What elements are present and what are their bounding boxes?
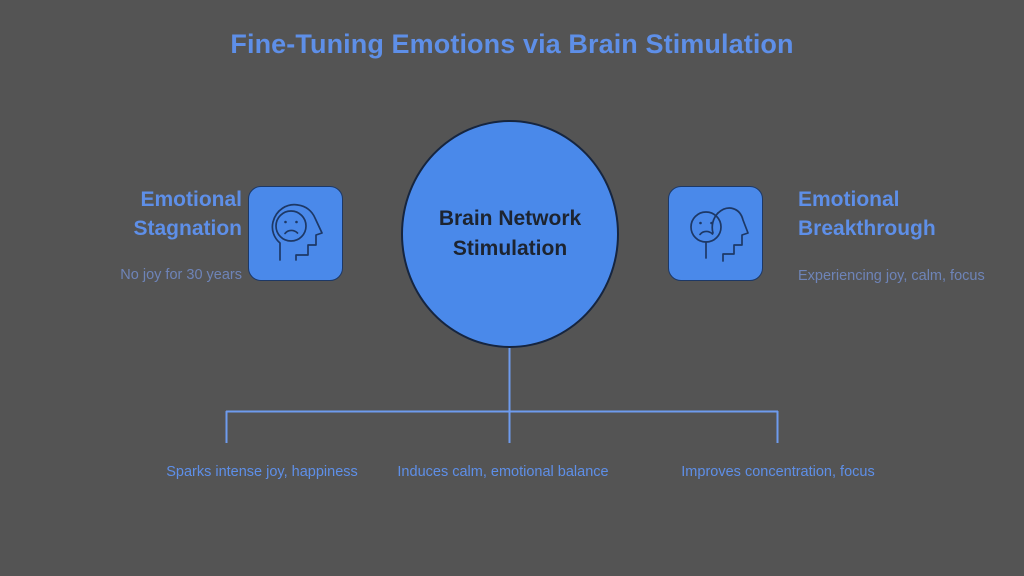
sad-face-head-profile-icon	[680, 198, 752, 270]
left-heading-line-1: Emotional	[140, 188, 242, 211]
right-icon-tile[interactable]	[668, 186, 763, 281]
sad-head-profile-icon	[260, 198, 332, 270]
slide-canvas: Fine-Tuning Emotions via Brain Stimulati…	[0, 0, 1024, 576]
branch-label-induces-calm: Induces calm, emotional balance	[378, 462, 628, 484]
right-heading-line-1: Emotional	[798, 188, 900, 211]
right-state-block: Emotional Breakthrough Experiencing joy,…	[798, 186, 1024, 287]
branch-label-sparks-joy: Sparks intense joy, happiness	[137, 462, 387, 484]
right-heading: Emotional Breakthrough	[798, 186, 1024, 243]
center-node-brain-network-stimulation[interactable]: Brain Network Stimulation	[401, 120, 619, 348]
left-subtext: No joy for 30 years	[10, 265, 242, 286]
branch-label-improves-concentration: Improves concentration, focus	[653, 462, 903, 484]
left-icon-tile[interactable]	[248, 186, 343, 281]
left-heading: Emotional Stagnation	[10, 186, 242, 243]
right-heading-line-2: Breakthrough	[798, 217, 936, 240]
page-title: Fine-Tuning Emotions via Brain Stimulati…	[0, 29, 1024, 60]
center-node-label: Brain Network Stimulation	[415, 204, 605, 264]
center-node-label-line-2: Stimulation	[453, 237, 567, 260]
right-subtext: Experiencing joy, calm, focus	[798, 266, 1024, 287]
left-heading-line-2: Stagnation	[134, 217, 243, 240]
left-state-block: Emotional Stagnation No joy for 30 years	[10, 186, 242, 286]
center-node-label-line-1: Brain Network	[439, 207, 581, 230]
